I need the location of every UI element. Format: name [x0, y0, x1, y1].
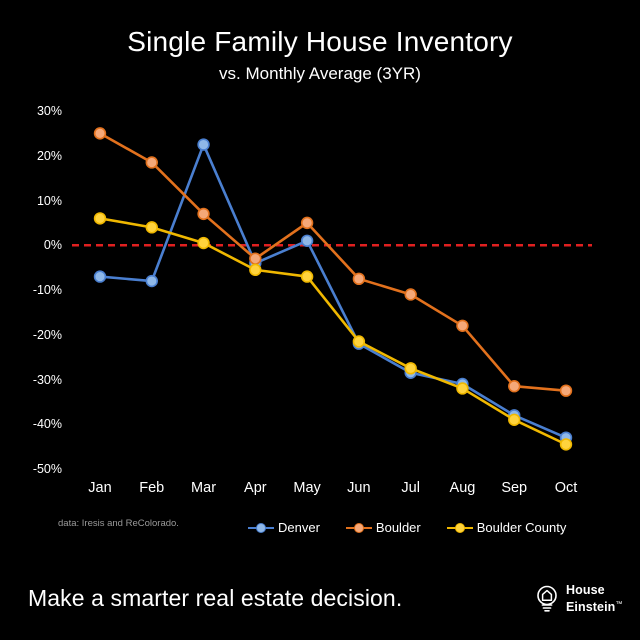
- y-axis-tick-label: 30%: [18, 104, 62, 118]
- x-axis-tick-label: Aug: [450, 480, 476, 496]
- data-point: [405, 363, 416, 374]
- y-axis-tick-label: -40%: [18, 417, 62, 431]
- brand-wordmark: House Einstein™: [566, 584, 623, 614]
- source-note: data: Iresis and ReColorado.: [58, 518, 179, 529]
- x-axis-tick-label: Feb: [139, 480, 164, 496]
- legend-item-boulder-county[interactable]: Boulder County: [447, 520, 567, 535]
- brand-line-2: Einstein: [566, 600, 615, 614]
- data-point: [353, 336, 364, 347]
- legend-label: Denver: [278, 520, 320, 535]
- data-point: [561, 439, 572, 450]
- data-point: [302, 271, 313, 282]
- y-axis-tick-label: -50%: [18, 462, 62, 476]
- series-denver: [95, 139, 572, 443]
- brand-line-1: House: [566, 583, 605, 597]
- legend-label: Boulder County: [477, 520, 567, 535]
- y-axis-tick-label: -10%: [18, 283, 62, 297]
- data-point: [95, 271, 106, 282]
- legend-item-denver[interactable]: Denver: [248, 520, 320, 535]
- data-point: [509, 414, 520, 425]
- x-axis-tick-label: Jan: [88, 480, 111, 496]
- x-axis-tick-label: Jul: [401, 480, 420, 496]
- x-axis-tick-label: May: [293, 480, 320, 496]
- data-point: [146, 222, 157, 233]
- data-point: [198, 238, 209, 249]
- data-point: [509, 381, 520, 392]
- data-point: [353, 273, 364, 284]
- data-point: [561, 385, 572, 396]
- brand-logo: House Einstein™: [534, 584, 623, 614]
- y-axis-tick-label: 0%: [18, 238, 62, 252]
- data-point: [146, 276, 157, 287]
- data-point: [405, 289, 416, 300]
- legend-item-boulder[interactable]: Boulder: [346, 520, 421, 535]
- x-axis-tick-label: Sep: [501, 480, 527, 496]
- footer-tagline: Make a smarter real estate decision.: [28, 585, 402, 612]
- data-point: [302, 235, 313, 246]
- chart-screenshot: Single Family House Inventory vs. Monthl…: [0, 0, 640, 640]
- y-axis-tick-label: 10%: [18, 194, 62, 208]
- data-point: [95, 213, 106, 224]
- data-point: [146, 157, 157, 168]
- y-axis-tick-label: 20%: [18, 149, 62, 163]
- y-axis-tick-label: -30%: [18, 373, 62, 387]
- data-point: [250, 264, 261, 275]
- x-axis-tick-label: Oct: [555, 480, 578, 496]
- legend-swatch-icon: [248, 522, 274, 534]
- series-boulder-county: [95, 213, 572, 450]
- data-point: [457, 383, 468, 394]
- chart-canvas: [0, 0, 640, 640]
- data-point: [302, 217, 313, 228]
- x-axis-tick-label: Apr: [244, 480, 267, 496]
- series-boulder: [95, 128, 572, 396]
- data-point: [198, 209, 209, 220]
- trademark-symbol: ™: [615, 601, 622, 608]
- lightbulb-house-icon: [534, 584, 560, 614]
- line-chart-plot: 30%20%10%0%-10%-20%-30%-40%-50% JanFebMa…: [0, 0, 640, 640]
- data-point: [250, 253, 261, 264]
- data-point: [198, 139, 209, 150]
- y-axis-tick-label: -20%: [18, 328, 62, 342]
- chart-legend: DenverBoulderBoulder County: [248, 520, 566, 535]
- legend-swatch-icon: [346, 522, 372, 534]
- data-point: [95, 128, 106, 139]
- legend-swatch-icon: [447, 522, 473, 534]
- x-axis-tick-label: Jun: [347, 480, 370, 496]
- y-axis: 30%20%10%0%-10%-20%-30%-40%-50%: [18, 0, 62, 640]
- legend-label: Boulder: [376, 520, 421, 535]
- data-point: [457, 320, 468, 331]
- x-axis-tick-label: Mar: [191, 480, 216, 496]
